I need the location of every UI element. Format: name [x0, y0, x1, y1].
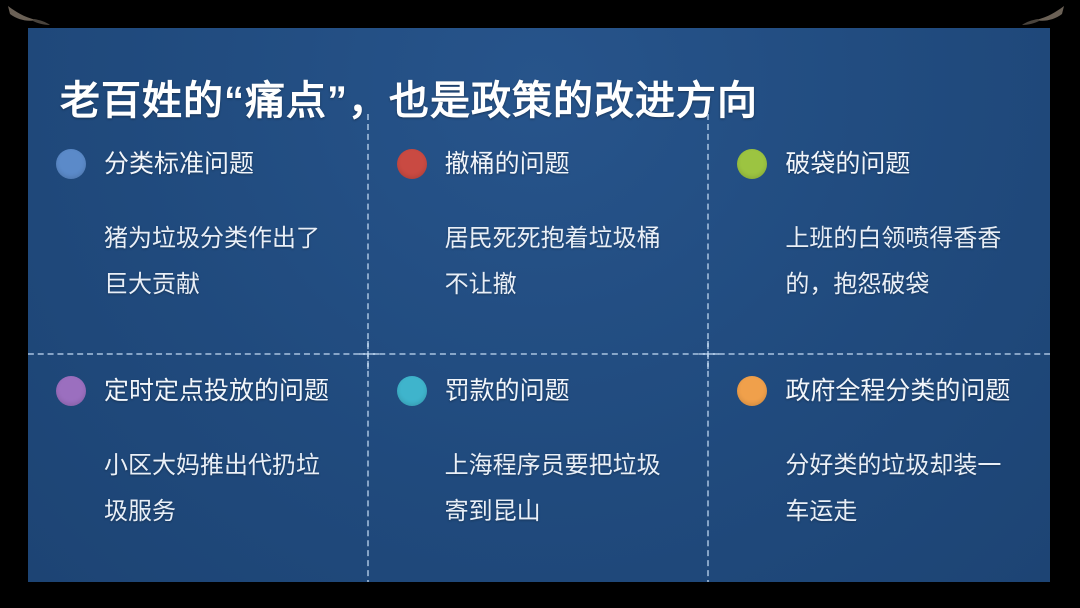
pain-point-body: 上海程序员要把垃圾寄到昆山 — [445, 443, 684, 535]
pain-point-header: 定时定点投放的问题 — [56, 373, 343, 409]
pain-point-title: 撤桶的问题 — [445, 148, 570, 180]
pain-point-header: 罚款的问题 — [397, 373, 684, 409]
bullet-dot-icon — [56, 149, 86, 179]
pain-point-header: 撤桶的问题 — [397, 146, 684, 182]
pain-point-header: 分类标准问题 — [56, 146, 343, 182]
bullet-dot-icon — [737, 376, 767, 406]
pain-point-title: 分类标准问题 — [104, 148, 254, 180]
pain-point-title: 定时定点投放的问题 — [104, 375, 329, 407]
bullet-dot-icon — [737, 149, 767, 179]
pain-point-grid: 分类标准问题 猪为垃圾分类作出了巨大贡献 撤桶的问题 居民死死抱着垃圾桶不让撤 … — [28, 128, 1050, 582]
pain-point-cell-5[interactable]: 罚款的问题 上海程序员要把垃圾寄到昆山 — [369, 355, 710, 582]
bird-icon — [6, 4, 52, 26]
bullet-dot-icon — [397, 149, 427, 179]
pain-point-title: 罚款的问题 — [445, 375, 570, 407]
bullet-dot-icon — [56, 376, 86, 406]
pain-point-cell-2[interactable]: 撤桶的问题 居民死死抱着垃圾桶不让撤 — [369, 128, 710, 355]
pain-point-title: 破袋的问题 — [785, 148, 910, 180]
pain-point-title: 政府全程分类的问题 — [785, 375, 1010, 407]
pain-point-body: 上班的白领喷得香香的，抱怨破袋 — [785, 216, 1024, 308]
pain-point-cell-1[interactable]: 分类标准问题 猪为垃圾分类作出了巨大贡献 — [28, 128, 369, 355]
bird-icon — [1020, 4, 1066, 26]
bullet-dot-icon — [397, 376, 427, 406]
pain-point-cell-6[interactable]: 政府全程分类的问题 分好类的垃圾却装一车运走 — [709, 355, 1050, 582]
pain-point-body: 居民死死抱着垃圾桶不让撤 — [445, 216, 684, 308]
pain-point-body: 小区大妈推出代扔垃圾服务 — [104, 443, 343, 535]
pain-point-cell-4[interactable]: 定时定点投放的问题 小区大妈推出代扔垃圾服务 — [28, 355, 369, 582]
slide-canvas: 老百姓的“痛点”，也是政策的改进方向 分类标准问题 猪为垃圾分类作出了巨大贡献 … — [28, 28, 1050, 582]
pain-point-cell-3[interactable]: 破袋的问题 上班的白领喷得香香的，抱怨破袋 — [709, 128, 1050, 355]
pain-point-header: 破袋的问题 — [737, 146, 1024, 182]
pain-point-body: 分好类的垃圾却装一车运走 — [785, 443, 1024, 535]
pain-point-header: 政府全程分类的问题 — [737, 373, 1024, 409]
page-title: 老百姓的“痛点”，也是政策的改进方向 — [60, 75, 758, 127]
pain-point-body: 猪为垃圾分类作出了巨大贡献 — [104, 216, 343, 308]
slide-stage: 老百姓的“痛点”，也是政策的改进方向 分类标准问题 猪为垃圾分类作出了巨大贡献 … — [0, 0, 1080, 608]
